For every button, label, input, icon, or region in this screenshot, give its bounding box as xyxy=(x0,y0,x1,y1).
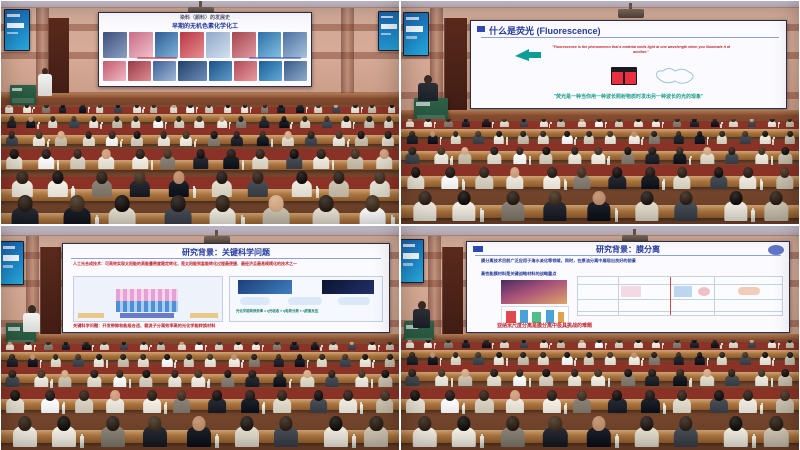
audience-head xyxy=(592,191,605,205)
audience-member xyxy=(405,119,413,127)
audience-head xyxy=(586,352,592,358)
audience-head xyxy=(380,390,390,401)
audience-head xyxy=(430,131,436,137)
audience-head xyxy=(276,354,282,360)
audience-head xyxy=(216,171,227,184)
collage-panel-top-right: 什么是荧光 (Fluorescence) "Fluorescence is th… xyxy=(400,0,800,225)
audience-member xyxy=(500,416,525,446)
audience-member xyxy=(311,342,319,350)
audience-head xyxy=(577,167,587,178)
audience-member xyxy=(48,116,58,128)
audience-member xyxy=(482,340,490,348)
slide-marker xyxy=(477,26,485,32)
audience-area xyxy=(0,105,400,225)
slide-title: 什么是荧光 (Fluorescence) xyxy=(489,24,601,37)
audience-head xyxy=(256,149,265,159)
audience-member xyxy=(543,390,562,413)
audience-head xyxy=(510,167,520,178)
audience-member xyxy=(376,390,394,412)
audience-member xyxy=(382,131,395,146)
audience-member xyxy=(209,195,237,225)
audience-head xyxy=(729,416,742,431)
water-bottle xyxy=(689,158,691,165)
audience-head xyxy=(445,390,455,401)
slide-title: 早期的无机色素化学化工 xyxy=(99,21,311,30)
audience-head xyxy=(592,416,605,431)
audience-member xyxy=(608,390,627,413)
audience-head xyxy=(577,390,587,401)
audience-member xyxy=(674,191,698,220)
audience-member xyxy=(694,131,705,144)
slide-top-right: 什么是荧光 (Fluorescence) "Fluorescence is th… xyxy=(471,21,786,108)
audience-member xyxy=(88,370,102,387)
water-bottle xyxy=(615,210,619,222)
audience-head xyxy=(10,149,19,159)
water-bottle xyxy=(80,436,84,448)
audience-member xyxy=(224,105,232,113)
audience-head xyxy=(363,354,369,360)
audience-member xyxy=(785,352,796,365)
audience-member xyxy=(139,370,153,387)
audience-member xyxy=(739,167,757,189)
audience-member xyxy=(764,416,789,446)
audience-member xyxy=(652,340,660,348)
audience-head xyxy=(595,369,603,377)
audience-head xyxy=(475,352,481,358)
audience-member xyxy=(452,191,476,220)
audience-member xyxy=(112,116,122,128)
audience-member xyxy=(641,390,660,413)
water-bottle xyxy=(772,139,774,144)
audience-head xyxy=(183,131,190,139)
audience-head xyxy=(210,131,217,139)
audience-head xyxy=(640,191,653,205)
audience-member xyxy=(729,119,737,127)
water-bottle xyxy=(752,436,756,449)
audience-member xyxy=(385,354,396,367)
audience-member xyxy=(314,105,322,113)
audience-member xyxy=(739,390,758,413)
audience-member xyxy=(605,352,616,365)
audience-member xyxy=(294,354,305,367)
audience-head xyxy=(147,390,157,401)
audience-member xyxy=(143,390,161,412)
audience-member xyxy=(229,354,240,367)
audience-head xyxy=(296,171,307,184)
audience-member xyxy=(501,191,525,220)
audience-member xyxy=(368,105,376,113)
audience-area xyxy=(400,119,800,225)
audience-member xyxy=(38,149,54,168)
audience-member xyxy=(435,147,449,164)
audience-member xyxy=(26,116,36,128)
water-bottle xyxy=(720,124,721,128)
audience-member xyxy=(407,131,418,144)
audience-member xyxy=(7,354,18,367)
audience-head xyxy=(649,369,657,377)
audience-member xyxy=(584,131,595,144)
audience-member xyxy=(273,370,287,387)
audience-head xyxy=(632,131,638,137)
audience-head xyxy=(367,116,372,122)
audience-member xyxy=(328,171,349,196)
audience-member xyxy=(785,340,793,348)
audience-member xyxy=(360,354,371,367)
audience-head xyxy=(743,167,753,178)
side-door xyxy=(40,247,61,343)
audience-member xyxy=(519,119,527,127)
audience-head xyxy=(176,116,181,122)
audience-member xyxy=(768,119,776,127)
audience-head xyxy=(318,195,333,212)
audience-member xyxy=(261,105,269,113)
audience-member xyxy=(785,119,793,127)
audience-member xyxy=(341,116,351,128)
audience-head xyxy=(461,369,469,377)
audience-member xyxy=(785,131,796,144)
audience-member xyxy=(412,416,437,446)
audience-head xyxy=(624,369,632,377)
audience-member xyxy=(441,167,459,189)
audience-head xyxy=(547,167,557,178)
water-bottle xyxy=(760,405,763,414)
audience-member xyxy=(194,116,204,128)
water-bottle xyxy=(372,362,374,367)
audience-head xyxy=(91,116,96,122)
audience-member xyxy=(518,352,529,365)
audience-member xyxy=(748,119,756,127)
slide-bullet-1: 膜分离技术目前广泛应用于海水淡化等领域，同时，在原油分离中展现出良好的前景 xyxy=(481,258,781,270)
audience-member xyxy=(42,105,50,113)
audience-head xyxy=(719,352,725,358)
audience-member xyxy=(384,116,394,128)
projection-screen: 研究背景：膜分离 膜分离技术目前广泛应用于海水淡化等领域，同时，在原油分离中展现… xyxy=(466,241,790,333)
audience-member xyxy=(70,149,86,168)
audience-member xyxy=(301,370,315,387)
audience-head xyxy=(409,131,415,137)
water-bottle xyxy=(47,141,49,147)
audience-member xyxy=(11,195,39,225)
audience-member xyxy=(462,119,470,127)
audience-head xyxy=(697,131,703,137)
audience-head xyxy=(714,390,724,401)
stage-edge xyxy=(400,110,800,115)
audience-member xyxy=(562,131,573,144)
audience-member xyxy=(322,116,332,128)
audience-head xyxy=(9,354,15,360)
audience-member xyxy=(543,167,561,189)
audience-member xyxy=(673,131,684,144)
audience-member xyxy=(221,370,235,387)
audience-member xyxy=(277,105,285,113)
audience-member xyxy=(513,147,527,164)
audience-member xyxy=(473,131,484,144)
audience-head xyxy=(743,131,749,137)
audience-head xyxy=(160,131,167,139)
audience-member xyxy=(578,119,586,127)
audience-head xyxy=(510,390,520,401)
water-bottle xyxy=(462,405,465,414)
audience-member xyxy=(208,390,226,412)
audience-head xyxy=(651,352,657,358)
audience-member xyxy=(748,340,756,348)
audience-head xyxy=(319,354,325,360)
audience-member xyxy=(286,149,302,168)
audience-member xyxy=(333,131,346,146)
audience-head xyxy=(17,195,32,212)
audience-member xyxy=(424,119,432,127)
audience-member xyxy=(6,370,20,387)
audience-head xyxy=(134,171,145,184)
audience-member xyxy=(458,147,472,164)
audience-member xyxy=(505,390,524,413)
water-bottle xyxy=(771,158,773,165)
audience-member xyxy=(587,191,611,220)
audience-head xyxy=(541,352,547,358)
audience-head xyxy=(80,390,90,401)
stage-edge xyxy=(400,334,800,339)
audience-member xyxy=(332,105,340,113)
audience-member xyxy=(27,354,38,367)
audience-member xyxy=(355,131,368,146)
audience-member xyxy=(451,416,476,446)
arrow-icon xyxy=(515,48,541,61)
audience-member xyxy=(170,105,178,113)
audience-member xyxy=(645,369,659,386)
audience-member xyxy=(584,352,595,365)
audience-member xyxy=(234,416,259,446)
audience-head xyxy=(17,171,28,184)
audience-member xyxy=(247,171,268,196)
audience-member xyxy=(755,369,769,386)
audience-head xyxy=(496,352,502,358)
molecule-outline-icon xyxy=(653,65,697,87)
audience-head xyxy=(133,116,138,122)
audience-member xyxy=(475,167,493,189)
audience-member xyxy=(710,167,728,189)
water-bottle xyxy=(462,181,465,190)
audience-head xyxy=(677,390,687,401)
slide-bullet-3: 亚纳米尺度分离是膜分离中极具挑战的难题 xyxy=(497,322,781,329)
audience-member xyxy=(348,342,356,350)
audience-member xyxy=(150,105,158,113)
audience-area xyxy=(0,342,400,450)
water-bottle xyxy=(306,109,307,113)
audience-head xyxy=(770,191,783,205)
audience-head xyxy=(438,369,446,377)
audience-member xyxy=(119,342,127,350)
audience-member xyxy=(725,369,739,386)
audience-member xyxy=(5,342,13,350)
audience-head xyxy=(18,416,31,431)
audience-member xyxy=(673,340,681,348)
projector-icon xyxy=(618,9,644,18)
audience-member xyxy=(241,105,249,113)
water-bottle xyxy=(662,124,663,128)
audience-member xyxy=(98,149,114,168)
audience-member xyxy=(259,116,269,128)
audience-member xyxy=(424,340,432,348)
audience-member xyxy=(717,131,728,144)
audience-member xyxy=(91,171,112,196)
slide-title: 研究背景：膜分离 xyxy=(467,244,789,255)
diagram-left xyxy=(73,276,223,322)
audience-head xyxy=(9,116,14,122)
audience-member xyxy=(44,342,52,350)
audience-member xyxy=(539,147,553,164)
water-bottle xyxy=(88,109,89,113)
audience-member xyxy=(58,370,72,387)
audience-member xyxy=(312,195,340,225)
water-bottle xyxy=(164,404,167,413)
audience-member xyxy=(701,147,715,164)
audience-member xyxy=(113,370,127,387)
audience-member xyxy=(351,105,359,113)
water-bottle xyxy=(347,141,349,147)
audience-head xyxy=(542,369,550,377)
water-bottle xyxy=(332,162,335,170)
audience-member xyxy=(89,116,99,128)
audience-head xyxy=(343,390,353,401)
water-bottle xyxy=(574,139,576,144)
audience-head xyxy=(787,352,793,358)
thumb-row-1 xyxy=(103,32,307,58)
audience-member xyxy=(50,354,61,367)
audience-head xyxy=(640,416,653,431)
audience-head xyxy=(728,369,736,377)
audience-member xyxy=(369,171,390,196)
audience-head xyxy=(418,416,431,431)
water-bottle xyxy=(215,436,219,448)
audience-member xyxy=(23,105,31,113)
audience-member xyxy=(427,352,438,365)
audience-member xyxy=(7,116,17,128)
audience-member xyxy=(407,167,425,189)
audience-member xyxy=(649,131,660,144)
audience-head xyxy=(612,390,622,401)
audience-member xyxy=(52,416,77,446)
audience-member xyxy=(405,369,419,386)
audience-head xyxy=(608,352,614,358)
audience-member xyxy=(290,342,298,350)
audience-member xyxy=(690,119,698,127)
audience-member xyxy=(223,149,239,168)
audience-member xyxy=(388,105,396,113)
slide-bullet-2: 关键科学问题：开发带隙和能级合适、载流子分离效率高的光化学能转换材料 xyxy=(73,323,381,329)
audience-head xyxy=(571,369,579,377)
audience-head xyxy=(329,416,342,431)
audience-member xyxy=(740,352,751,365)
water-bottle xyxy=(771,380,773,387)
audience-head xyxy=(475,131,481,137)
audience-head xyxy=(418,191,431,205)
audience-head xyxy=(42,149,51,159)
water-bottle xyxy=(689,380,691,387)
audience-head xyxy=(268,195,283,212)
audience-member xyxy=(96,105,104,113)
audience-member xyxy=(494,352,505,365)
audience-head xyxy=(541,131,547,137)
audience-member xyxy=(282,131,295,146)
water-bottle xyxy=(641,360,643,365)
audience-head xyxy=(163,149,172,159)
audience-member xyxy=(79,105,87,113)
audience-member xyxy=(407,352,418,365)
audience-head xyxy=(53,354,59,360)
water-bottle xyxy=(241,362,243,367)
audience-member xyxy=(364,416,389,446)
audience-head xyxy=(613,167,623,178)
audience-member xyxy=(538,352,549,365)
audience-head xyxy=(245,390,255,401)
audience-member xyxy=(519,340,527,348)
audience-member xyxy=(157,131,170,146)
water-bottle xyxy=(50,381,52,388)
audience-member xyxy=(35,370,49,387)
water-bottle xyxy=(289,381,291,388)
water-bottle xyxy=(772,360,774,365)
audience-head xyxy=(548,416,561,431)
water-bottle xyxy=(480,210,484,222)
audience-head xyxy=(215,195,230,212)
side-monitor-left xyxy=(400,239,424,283)
audience-member xyxy=(279,116,289,128)
audience-member xyxy=(615,340,623,348)
audience-member xyxy=(193,149,209,168)
audience-head xyxy=(290,149,299,159)
audience-member xyxy=(59,105,67,113)
audience-member xyxy=(487,369,501,386)
audience-member xyxy=(131,116,141,128)
audience-member xyxy=(138,354,149,367)
audience-member xyxy=(768,340,776,348)
water-bottle xyxy=(271,141,273,147)
audience-head xyxy=(259,131,266,139)
audience-head xyxy=(564,131,570,137)
audience-head xyxy=(677,167,687,178)
audience-member xyxy=(174,116,184,128)
audience-member xyxy=(129,171,150,196)
audience-head xyxy=(196,149,205,159)
audience-member xyxy=(629,131,640,144)
audience-head xyxy=(227,149,236,159)
audience-head xyxy=(314,390,324,401)
audience-member xyxy=(379,370,393,387)
collage-seam xyxy=(0,224,800,226)
water-bottle xyxy=(605,124,606,128)
water-bottle xyxy=(262,347,263,351)
audience-member xyxy=(274,416,299,446)
water-bottle xyxy=(574,360,576,365)
audience-member xyxy=(325,370,339,387)
audience-head xyxy=(632,352,638,358)
audience-member xyxy=(543,191,567,220)
audience-head xyxy=(297,354,303,360)
audience-head xyxy=(479,390,489,401)
audience-head xyxy=(680,191,693,205)
water-bottle xyxy=(193,188,196,198)
water-bottle xyxy=(564,181,567,190)
audience-member xyxy=(444,119,452,127)
audience-member xyxy=(12,171,33,196)
water-bottle xyxy=(250,109,251,113)
slide-photo-plant xyxy=(501,280,567,304)
audience-member xyxy=(385,342,393,350)
audience-member xyxy=(406,390,425,413)
audience-member xyxy=(500,119,508,127)
audience-member xyxy=(160,149,176,168)
audience-member xyxy=(406,147,420,164)
